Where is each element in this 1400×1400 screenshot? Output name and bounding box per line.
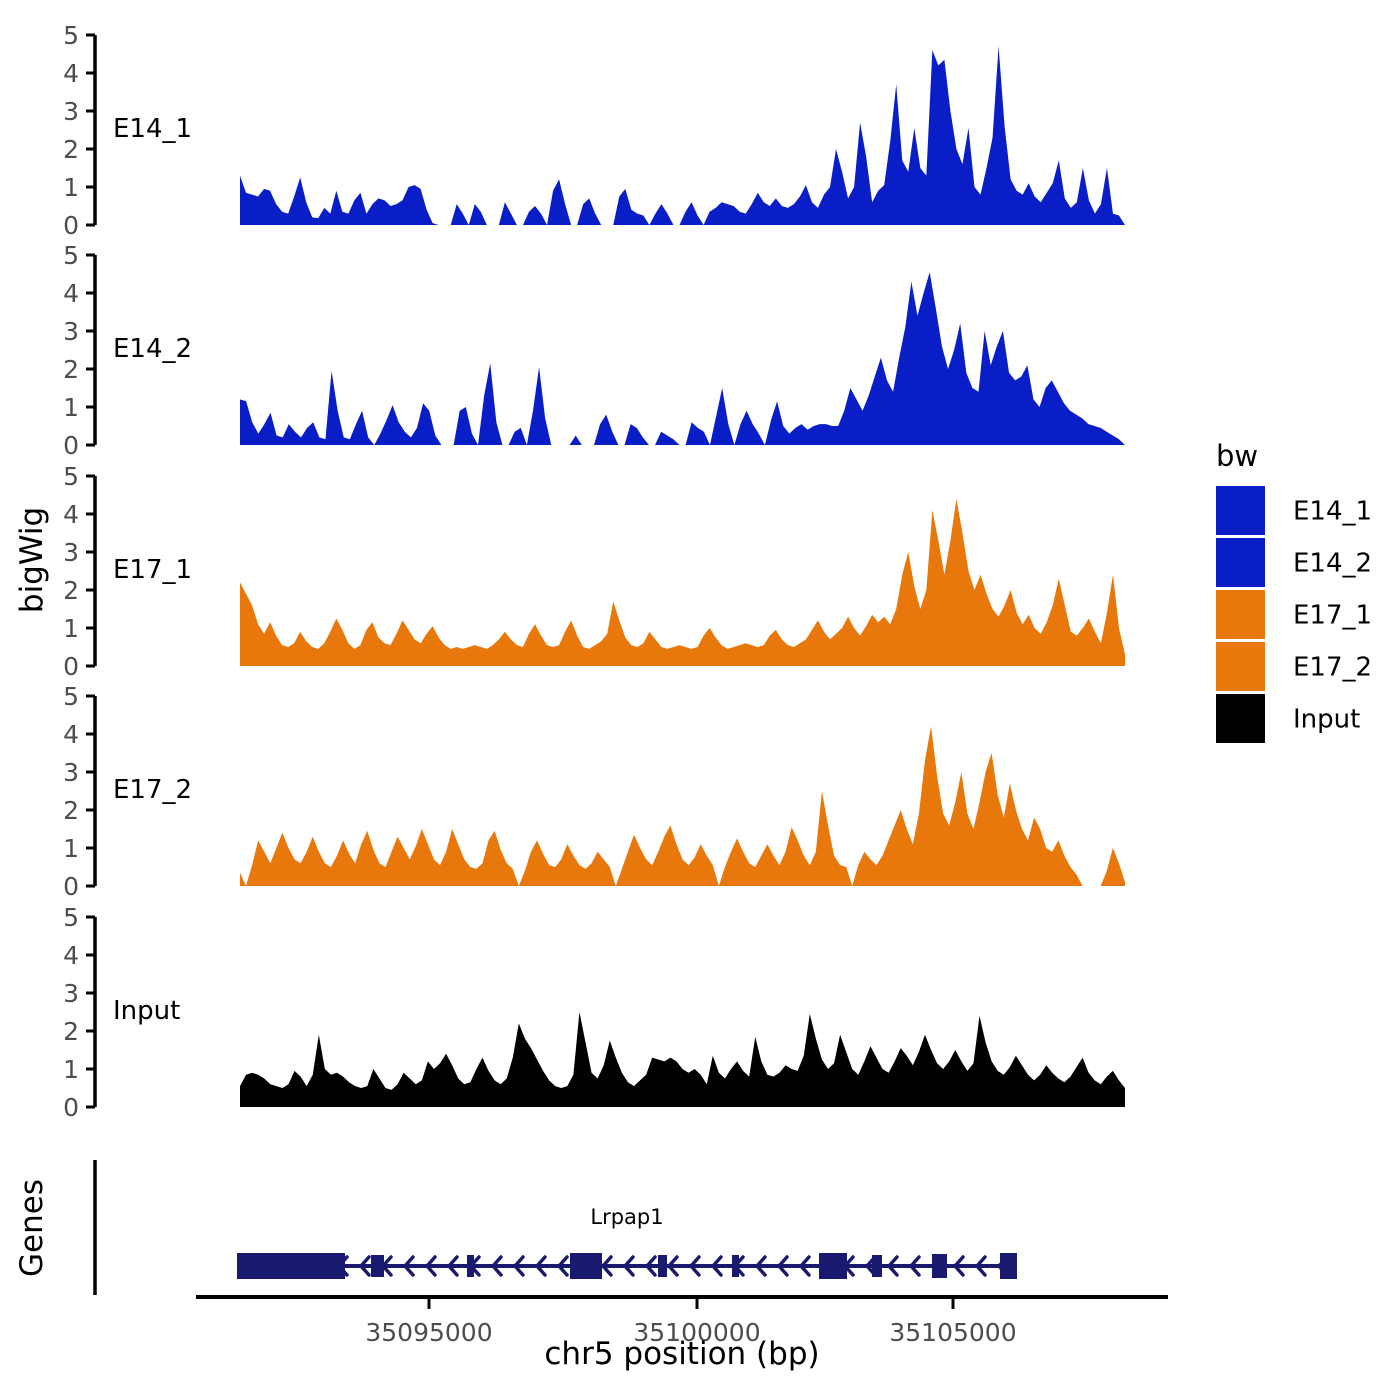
figure-background (0, 0, 1400, 1400)
y-tick-label: 0 (63, 211, 79, 240)
legend-swatch-input[interactable] (1216, 694, 1265, 743)
track-label-e14_1: E14_1 (113, 114, 192, 144)
y-tick-label: 2 (63, 1017, 79, 1046)
x-tick-label: 35095000 (365, 1318, 492, 1347)
y-tick-label: 4 (63, 941, 79, 970)
gene-exon (371, 1255, 384, 1277)
y-tick-label: 0 (63, 652, 79, 681)
y-tick-label: 5 (63, 241, 79, 270)
gene-exon (237, 1253, 345, 1279)
y-tick-label: 0 (63, 1093, 79, 1122)
y-tick-label: 3 (63, 97, 79, 126)
legend-swatch-e14_1[interactable] (1216, 486, 1265, 535)
legend-swatch-e17_2[interactable] (1216, 642, 1265, 691)
legend-title: bw (1216, 439, 1258, 473)
y-axis-title: bigWig (14, 507, 50, 613)
y-tick-label: 3 (63, 538, 79, 567)
y-tick-label: 2 (63, 355, 79, 384)
gene-exon (872, 1255, 882, 1277)
track-label-e14_2: E14_2 (113, 334, 192, 364)
track-label-e17_2: E17_2 (113, 775, 192, 805)
legend-swatch-e17_1[interactable] (1216, 590, 1265, 639)
y-tick-label: 3 (63, 758, 79, 787)
y-tick-label: 1 (63, 173, 79, 202)
gene-exon (932, 1254, 947, 1278)
x-tick-label: 35105000 (889, 1318, 1016, 1347)
y-tick-label: 1 (63, 834, 79, 863)
gene-exon (658, 1255, 667, 1277)
gene-exon (467, 1255, 474, 1277)
y-tick-label: 2 (63, 135, 79, 164)
track-label-e17_1: E17_1 (113, 555, 192, 585)
y-tick-label: 4 (63, 279, 79, 308)
y-tick-label: 0 (63, 872, 79, 901)
track-label-input: Input (113, 996, 180, 1026)
x-axis-title: chr5 position (bp) (544, 1336, 819, 1372)
y-tick-label: 3 (63, 979, 79, 1008)
gene-exon (819, 1253, 847, 1279)
legend-swatch-e14_2[interactable] (1216, 538, 1265, 587)
legend-items: E14_1E14_2E17_1E17_2Input (1216, 486, 1372, 743)
gene-name-label: Lrpap1 (590, 1205, 663, 1229)
y-tick-label: 5 (63, 903, 79, 932)
y-tick-label: 4 (63, 720, 79, 749)
y-tick-label: 4 (63, 500, 79, 529)
gene-exon (1000, 1253, 1017, 1279)
y-tick-label: 2 (63, 796, 79, 825)
legend-label-e17_2: E17_2 (1293, 653, 1372, 683)
gene-exon (570, 1253, 602, 1279)
figure-root: bigWig Genes 012345E14_1012345E14_201234… (0, 0, 1400, 1400)
legend-label-e14_2: E14_2 (1293, 549, 1372, 579)
y-tick-label: 3 (63, 317, 79, 346)
y-tick-label: 5 (63, 462, 79, 491)
y-tick-label: 5 (63, 21, 79, 50)
y-tick-label: 1 (63, 1055, 79, 1084)
y-tick-label: 4 (63, 59, 79, 88)
gene-exon (732, 1255, 739, 1277)
legend-label-input: Input (1293, 705, 1360, 735)
y-tick-label: 1 (63, 614, 79, 643)
y-tick-label: 2 (63, 576, 79, 605)
legend-label-e17_1: E17_1 (1293, 601, 1372, 631)
y-tick-label: 0 (63, 431, 79, 460)
y-tick-label: 1 (63, 393, 79, 422)
genes-axis-title: Genes (14, 1179, 50, 1277)
legend-label-e14_1: E14_1 (1293, 497, 1372, 527)
y-tick-label: 5 (63, 682, 79, 711)
genome-browser-figure: bigWig Genes 012345E14_1012345E14_201234… (0, 0, 1400, 1400)
